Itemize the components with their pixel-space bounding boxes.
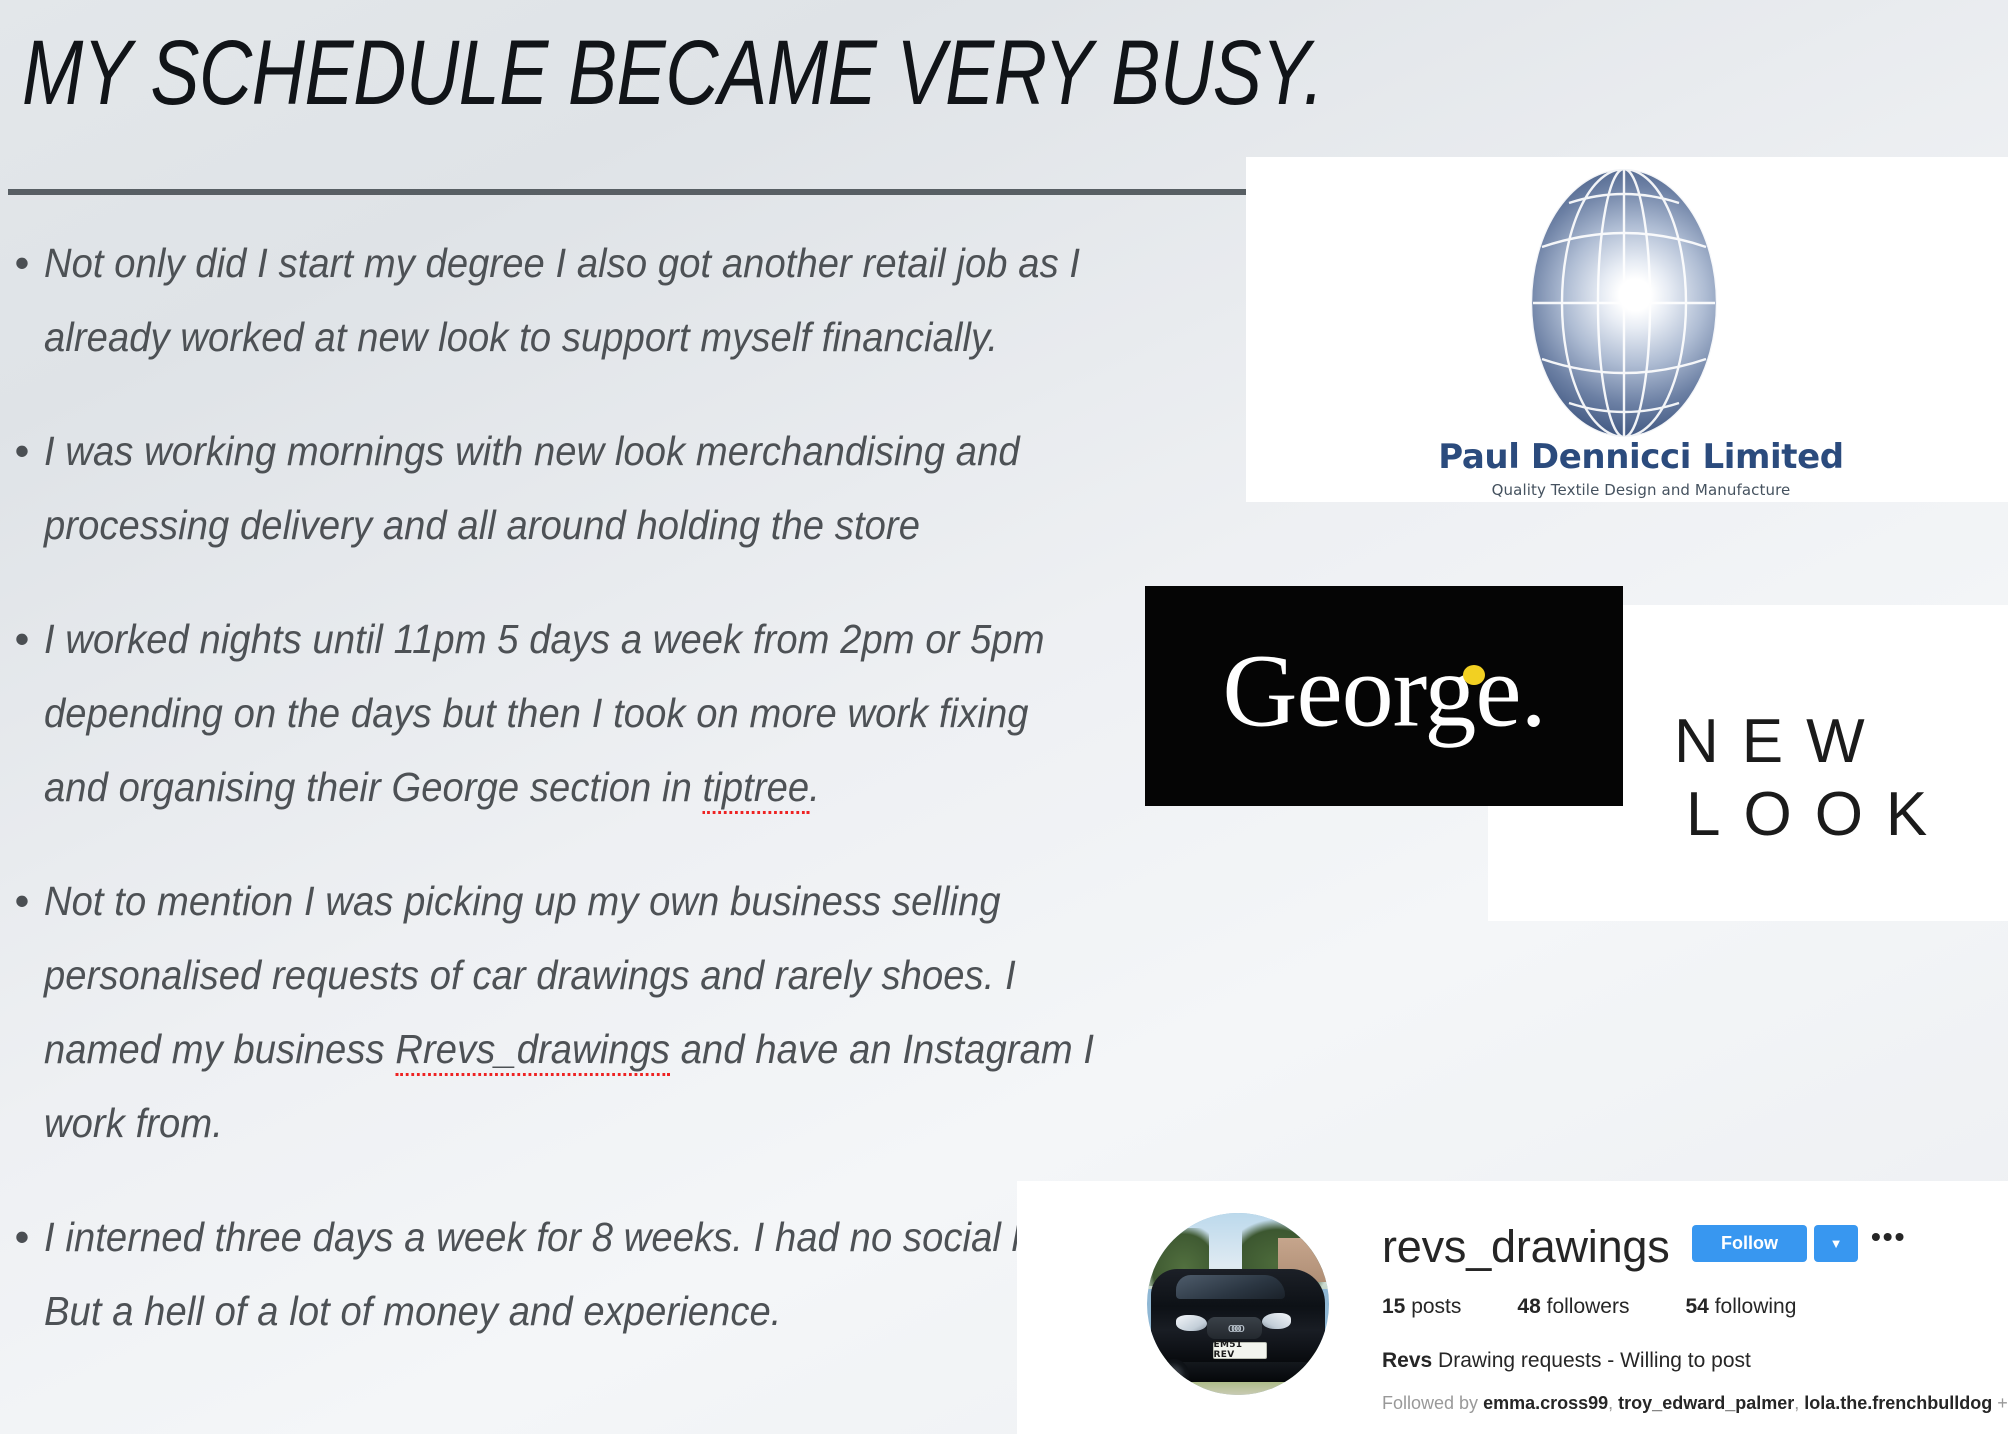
- list-item: • I worked nights until 11pm 5 days a we…: [0, 602, 1180, 824]
- bullet-segment: Not only did I start my degree I also go…: [44, 240, 1080, 360]
- george-accent-dot-icon: [1463, 665, 1485, 685]
- bullet-segment: I interned three days a week for 8 weeks…: [44, 1214, 1071, 1334]
- page-title: MY SCHEDULE BECAME VERY BUSY.: [22, 24, 1323, 123]
- paul-dennicci-logo-panel: Paul Dennicci Limited Quality Textile De…: [1246, 157, 2008, 502]
- avatar[interactable]: oooo EM51 REV: [1147, 1213, 1329, 1395]
- chevron-down-icon[interactable]: ▼: [1814, 1225, 1858, 1262]
- new-look-line-1: NEW: [1674, 707, 1888, 776]
- george-wordmark: George.: [1222, 632, 1545, 751]
- new-look-wordmark: NEW LOOK: [1674, 705, 1950, 851]
- followed-by-row: Followed by emma.cross99, troy_edward_pa…: [1382, 1393, 2008, 1414]
- bullet-marker: •: [0, 1200, 44, 1274]
- avatar-headlight-left: [1176, 1315, 1207, 1331]
- stat-posts-count: 15: [1382, 1295, 1405, 1318]
- stat-followers-count: 48: [1517, 1295, 1540, 1318]
- stat-following-count: 54: [1685, 1295, 1708, 1318]
- followed-more-count[interactable]: + 18 more: [1997, 1393, 2008, 1413]
- bullet-marker: •: [0, 864, 44, 938]
- followed-by-label: Followed by: [1382, 1393, 1478, 1413]
- followed-user[interactable]: emma.cross99: [1483, 1393, 1608, 1413]
- follow-button[interactable]: Follow: [1692, 1225, 1807, 1262]
- stat-following[interactable]: 54 following: [1685, 1295, 1796, 1319]
- george-logo-panel: George.: [1145, 586, 1623, 806]
- bullet-marker: •: [0, 414, 44, 488]
- bullet-segment: I was working mornings with new look mer…: [44, 428, 1020, 548]
- misspelled-word: Rrevs_drawings: [395, 1026, 670, 1076]
- bullet-text: Not only did I start my degree I also go…: [44, 226, 1100, 374]
- stat-posts-label: posts: [1411, 1295, 1461, 1318]
- list-item: • I interned three days a week for 8 wee…: [0, 1200, 1180, 1348]
- stat-following-label: following: [1715, 1295, 1797, 1318]
- followed-user[interactable]: troy_edward_palmer: [1618, 1393, 1794, 1413]
- list-item: • Not only did I start my degree I also …: [0, 226, 1180, 374]
- stat-followers-label: followers: [1547, 1295, 1630, 1318]
- avatar-windshield: [1176, 1275, 1285, 1299]
- ellipsis-icon[interactable]: •••: [1871, 1229, 1906, 1245]
- bullet-marker: •: [0, 226, 44, 300]
- stat-followers[interactable]: 48 followers: [1517, 1295, 1629, 1319]
- instagram-stats: 15 posts 48 followers 54 following: [1382, 1295, 1852, 1319]
- slide-canvas: MY SCHEDULE BECAME VERY BUSY. • Not only…: [0, 0, 2008, 1434]
- bio-display-name: Revs: [1382, 1349, 1432, 1372]
- instagram-bio: Revs Drawing requests - Willing to post: [1382, 1349, 1751, 1373]
- bullet-text: I was working mornings with new look mer…: [44, 414, 1100, 562]
- dennicci-tagline: Quality Textile Design and Manufacture: [1246, 481, 2008, 499]
- bio-description: Drawing requests - Willing to post: [1438, 1349, 1751, 1372]
- bullet-segment: I worked nights until 11pm 5 days a week…: [44, 616, 1045, 810]
- stat-posts[interactable]: 15 posts: [1382, 1295, 1461, 1319]
- list-item: • I was working mornings with new look m…: [0, 414, 1180, 562]
- dennicci-brand-name: Paul Dennicci Limited: [1246, 437, 2008, 477]
- list-item: • Not to mention I was picking up my own…: [0, 864, 1180, 1160]
- avatar-grille: oooo: [1207, 1317, 1262, 1339]
- avatar-wheel: [1158, 1359, 1189, 1390]
- misspelled-word: tiptree: [703, 764, 810, 814]
- bullet-text: Not to mention I was picking up my own b…: [44, 864, 1100, 1160]
- globe-icon: [1531, 169, 1717, 437]
- bullet-segment: .: [809, 764, 820, 810]
- avatar-headlight-right: [1262, 1313, 1291, 1329]
- bullet-marker: •: [0, 602, 44, 676]
- audi-rings-icon: oooo: [1228, 1320, 1241, 1335]
- followed-user[interactable]: lola.the.frenchbulldog: [1804, 1393, 1992, 1413]
- new-look-line-2: LOOK: [1674, 778, 1950, 851]
- bullet-text: I worked nights until 11pm 5 days a week…: [44, 602, 1100, 824]
- instagram-profile-panel: oooo EM51 REV revs_drawings Follow ▼ •••…: [1017, 1181, 2008, 1434]
- bullet-list: • Not only did I start my degree I also …: [0, 226, 1180, 1388]
- bullet-text: I interned three days a week for 8 weeks…: [44, 1200, 1100, 1348]
- instagram-username[interactable]: revs_drawings: [1382, 1221, 1670, 1273]
- avatar-license-plate: EM51 REV: [1213, 1342, 1268, 1358]
